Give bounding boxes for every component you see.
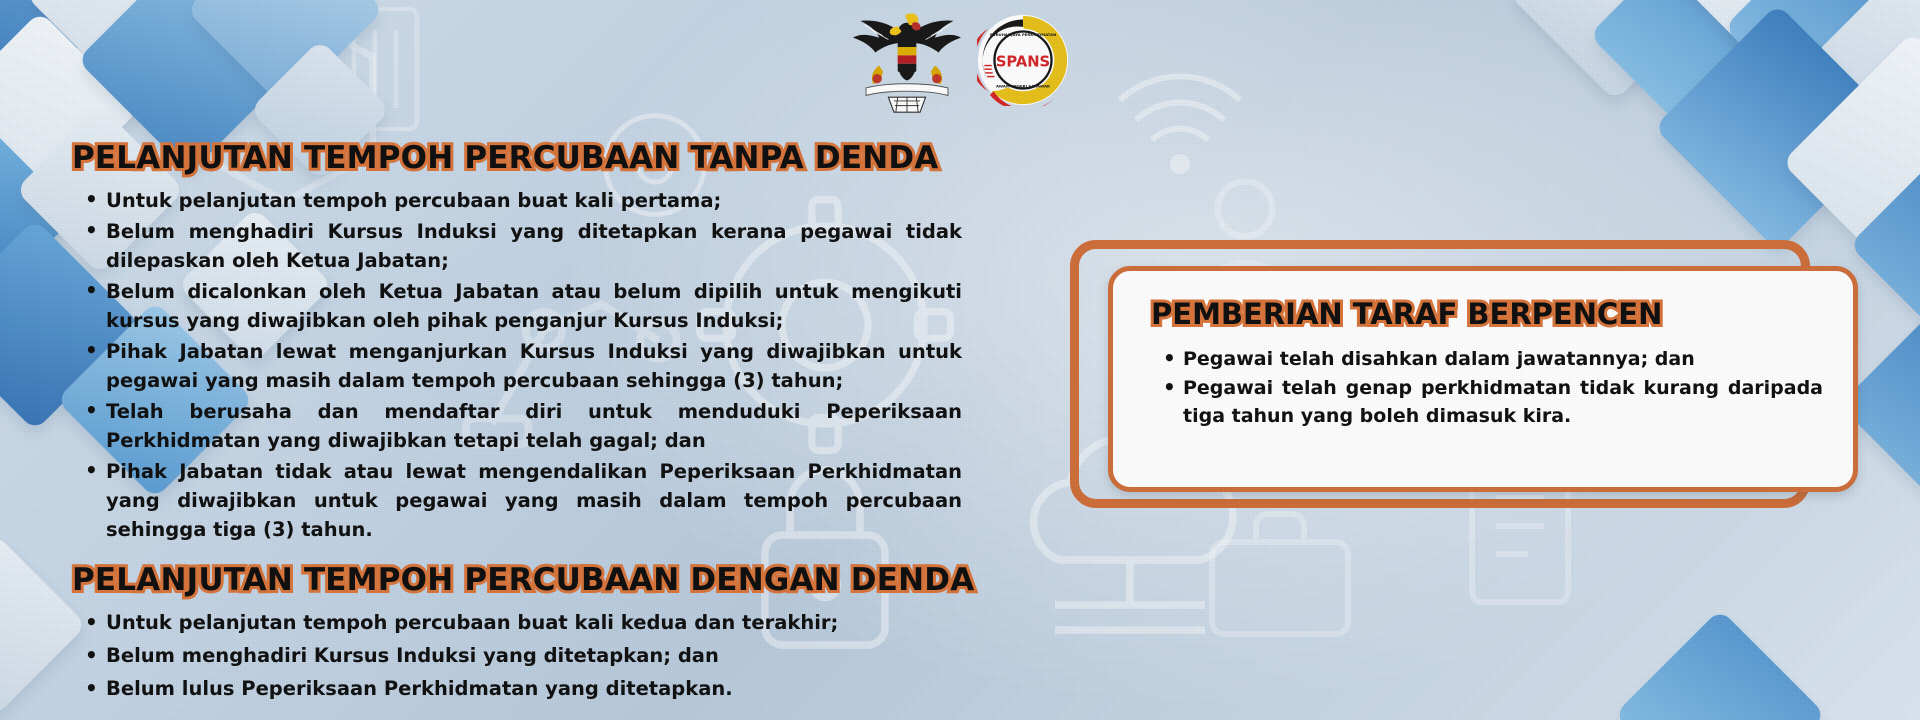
list-item: Belum dicalonkan oleh Ketua Jabatan atau… (106, 277, 962, 335)
sarawak-state-crest (851, 6, 963, 114)
svg-text:SPANS: SPANS (996, 53, 1050, 70)
list-item: Pihak Jabatan lewat menganjurkan Kursus … (106, 337, 962, 395)
svg-text:AWAM NEGERI SARAWAK: AWAM NEGERI SARAWAK (996, 84, 1051, 89)
list-item: Untuk pelanjutan tempoh percubaan buat k… (106, 186, 962, 215)
right-info-panel: PEMBERIAN TARAF BERPENCEN Pegawai telah … (1070, 240, 1830, 500)
list-item: Untuk pelanjutan tempoh percubaan buat k… (106, 608, 962, 638)
heading-pelanjutan-dengan-denda: PELANJUTAN TEMPOH PERCUBAAN DENGAN DENDA (72, 562, 974, 598)
bullet-list-tanpa-denda: Untuk pelanjutan tempoh percubaan buat k… (72, 186, 962, 544)
list-item: Belum menghadiri Kursus Induksi yang dit… (106, 217, 962, 275)
list-item: Pegawai telah disahkan dalam jawatannya;… (1183, 345, 1823, 373)
heading-pemberian-taraf-berpencen: PEMBERIAN TARAF BERPENCEN (1151, 297, 1662, 331)
list-item: Pihak Jabatan tidak atau lewat mengendal… (106, 457, 962, 544)
poster-canvas: SPANS SURUHANJAYA PERKHIDMATAN AWAM NEGE… (0, 0, 1920, 720)
left-content-column: PELANJUTAN TEMPOH PERCUBAAN TANPA DENDA … (72, 140, 962, 707)
list-item: Telah berusaha dan mendaftar diri untuk … (106, 397, 962, 455)
list-item: Pegawai telah genap perkhidmatan tidak k… (1183, 374, 1823, 430)
list-item: Belum menghadiri Kursus Induksi yang dit… (106, 641, 962, 671)
wifi-signal-watermark-icon (1080, 40, 1280, 240)
heading-pelanjutan-tanpa-denda: PELANJUTAN TEMPOH PERCUBAAN TANPA DENDA (72, 140, 939, 176)
logo-group: SPANS SURUHANJAYA PERKHIDMATAN AWAM NEGE… (851, 6, 1069, 114)
decor-diamond (1614, 609, 1826, 720)
bullet-list-dengan-denda: Untuk pelanjutan tempoh percubaan buat k… (72, 608, 962, 704)
spans-logo: SPANS SURUHANJAYA PERKHIDMATAN AWAM NEGE… (977, 14, 1069, 106)
panel-white-card: PEMBERIAN TARAF BERPENCEN Pegawai telah … (1108, 266, 1858, 492)
bullet-list-berpencen: Pegawai telah disahkan dalam jawatannya;… (1151, 345, 1823, 430)
list-item: Belum lulus Peperiksaan Perkhidmatan yan… (106, 674, 962, 704)
svg-text:SURUHANJAYA PERKHIDMATAN: SURUHANJAYA PERKHIDMATAN (990, 32, 1057, 37)
